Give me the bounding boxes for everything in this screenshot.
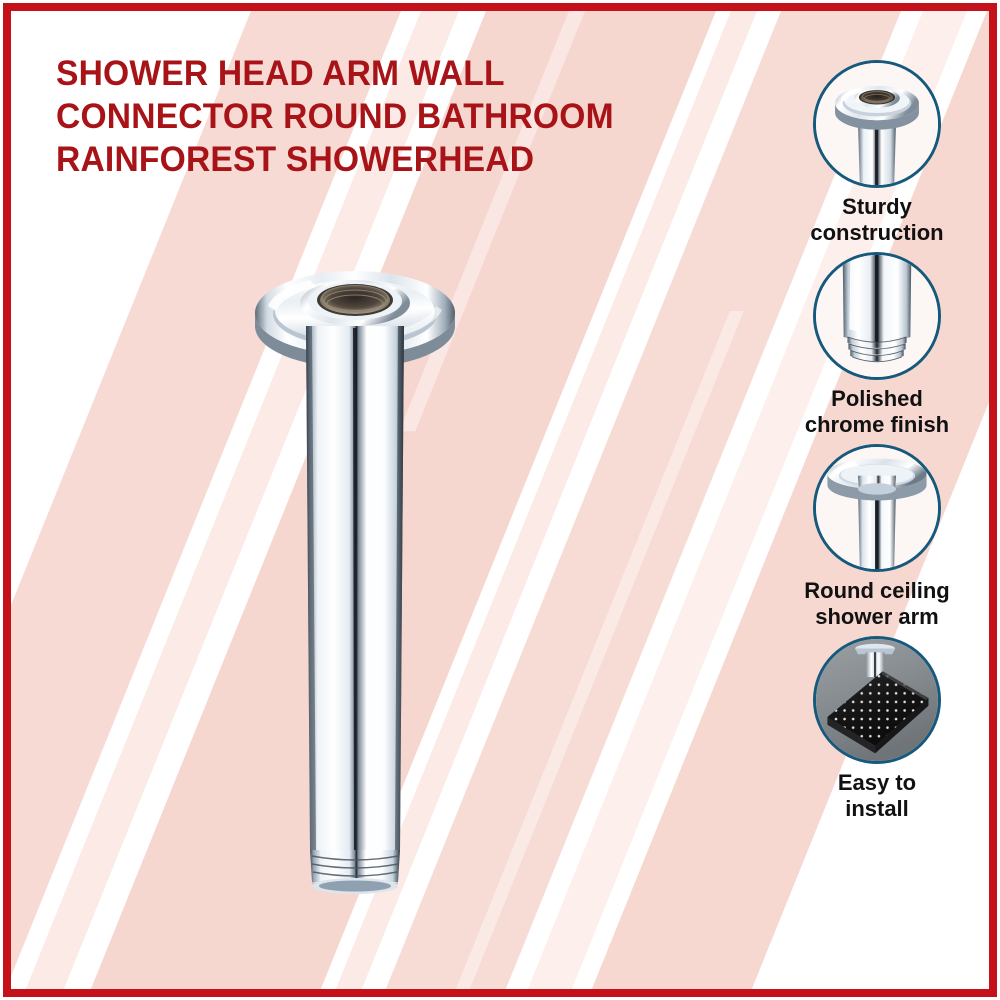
- feature-label-easy-to-install: Easy to install: [772, 770, 982, 822]
- product-image: [250, 258, 460, 918]
- title-line-3: RAINFOREST SHOWERHEAD: [56, 138, 670, 181]
- feature-label-line-2: construction: [772, 220, 982, 246]
- feature-label-round-ceiling-shower-arm: Round ceiling shower arm: [772, 578, 982, 630]
- feature-label-sturdy-construction: Sturdy construction: [772, 194, 982, 246]
- feature-label-line-1: Round ceiling: [772, 578, 982, 604]
- shower-arm-illustration: [250, 258, 460, 918]
- chrome-tube-icon: [813, 252, 941, 380]
- feature-item-sturdy-construction: Sturdy construction: [772, 60, 982, 246]
- flange-top-icon: [813, 60, 941, 188]
- title-line-2: CONNECTOR ROUND BATHROOM: [56, 95, 670, 138]
- product-listing-image: SHOWER HEAD ARM WALL CONNECTOR ROUND BAT…: [0, 0, 1000, 1000]
- square-showerhead-icon: [813, 636, 941, 764]
- feature-item-round-ceiling-shower-arm: Round ceiling shower arm: [772, 444, 982, 630]
- page-title: SHOWER HEAD ARM WALL CONNECTOR ROUND BAT…: [56, 52, 670, 181]
- feature-item-easy-to-install: Easy to install: [772, 636, 982, 822]
- feature-label-line-2: install: [772, 796, 982, 822]
- feature-label-line-2: chrome finish: [772, 412, 982, 438]
- title-line-1: SHOWER HEAD ARM WALL: [56, 52, 670, 95]
- feature-label-line-1: Sturdy: [772, 194, 982, 220]
- ceiling-arm-icon: [813, 444, 941, 572]
- feature-label-line-1: Easy to: [772, 770, 982, 796]
- feature-list: Sturdy construction: [772, 60, 982, 828]
- feature-label-polished-chrome-finish: Polished chrome finish: [772, 386, 982, 438]
- feature-label-line-2: shower arm: [772, 604, 982, 630]
- feature-item-polished-chrome-finish: Polished chrome finish: [772, 252, 982, 438]
- feature-label-line-1: Polished: [772, 386, 982, 412]
